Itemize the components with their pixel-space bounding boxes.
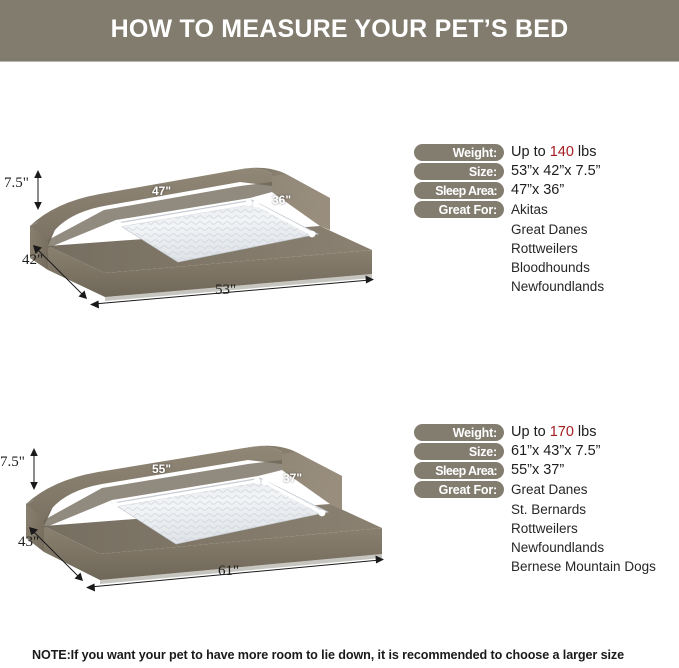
weight-value: Up to 140 lbs bbox=[511, 144, 596, 161]
sleep-area-badge: Sleep Area: bbox=[414, 462, 504, 479]
breed-item: Bloodhounds bbox=[511, 258, 679, 277]
great-for-badge: Great For: bbox=[414, 201, 504, 218]
breed-list: St. Bernards Rottweilers Newfoundlands B… bbox=[511, 500, 679, 576]
spec-row-sleep-area: Sleep Area: 55”x 37” bbox=[414, 462, 679, 481]
size-value: 61”x 43”x 7.5” bbox=[511, 443, 600, 460]
dim-pad-depth-label: 36" bbox=[272, 193, 291, 207]
weight-badge: Weight: bbox=[414, 424, 504, 441]
page-header: HOW TO MEASURE YOUR PET’S BED bbox=[0, 0, 679, 58]
bed-illustration bbox=[0, 130, 410, 330]
dim-depth-label: 42" bbox=[22, 252, 43, 269]
weight-prefix: Up to bbox=[511, 424, 550, 440]
sleep-area-value: 55”x 37” bbox=[511, 462, 564, 479]
dim-width-label: 53" bbox=[215, 282, 236, 299]
spec-panel-xlarge: Weight: Up to 170 lbs Size: 61”x 43”x 7.… bbox=[414, 424, 679, 576]
breed-item: Rottweilers bbox=[511, 239, 679, 258]
header-divider-light bbox=[0, 61, 679, 62]
breed-item: Newfoundlands bbox=[511, 277, 679, 296]
dim-pad-depth-label: 37" bbox=[283, 471, 302, 485]
bed-diagram-xlarge: 7.5" 43" 61" 55" 37" bbox=[0, 410, 410, 610]
spec-row-sleep-area: Sleep Area: 47”x 36” bbox=[414, 182, 679, 201]
breed-list: Great Danes Rottweilers Bloodhounds Newf… bbox=[511, 220, 679, 296]
dim-height-label: 7.5" bbox=[4, 175, 29, 192]
great-for-badge: Great For: bbox=[414, 481, 504, 498]
dim-pad-width-label: 55" bbox=[152, 462, 171, 476]
spec-row-weight: Weight: Up to 170 lbs bbox=[414, 424, 679, 443]
product-block-xlarge: 7.5" 43" 61" 55" 37" Weight: Up to 170 l… bbox=[0, 410, 679, 610]
weight-suffix: lbs bbox=[574, 424, 597, 440]
breed-item: Bernese Mountain Dogs bbox=[511, 557, 679, 576]
weight-badge: Weight: bbox=[414, 144, 504, 161]
size-badge: Size: bbox=[414, 443, 504, 460]
spec-row-size: Size: 53”x 42”x 7.5” bbox=[414, 163, 679, 182]
dim-height-label: 7.5" bbox=[0, 454, 25, 471]
breed-item: Rottweilers bbox=[511, 519, 679, 538]
weight-value: Up to 170 lbs bbox=[511, 424, 596, 441]
spec-row-great-for: Great For: Akitas bbox=[414, 201, 679, 220]
breed-item: Great Danes bbox=[511, 481, 588, 498]
bed-illustration bbox=[0, 410, 410, 610]
sleep-area-badge: Sleep Area: bbox=[414, 182, 504, 199]
dim-depth-label: 43" bbox=[18, 534, 39, 551]
dim-pad-width-label: 47" bbox=[152, 184, 171, 198]
spec-row-great-for: Great For: Great Danes bbox=[414, 481, 679, 500]
spec-panel-large: Weight: Up to 140 lbs Size: 53”x 42”x 7.… bbox=[414, 144, 679, 296]
product-block-large: 7.5" 42" 53" 47" 36" Weight: Up to 140 l… bbox=[0, 130, 679, 330]
page-title: HOW TO MEASURE YOUR PET’S BED bbox=[111, 15, 569, 44]
bed-diagram-large: 7.5" 42" 53" 47" 36" bbox=[0, 130, 410, 330]
breed-item: St. Bernards bbox=[511, 500, 679, 519]
spec-row-weight: Weight: Up to 140 lbs bbox=[414, 144, 679, 163]
weight-number: 140 bbox=[550, 144, 574, 160]
breed-item: Newfoundlands bbox=[511, 538, 679, 557]
size-value: 53”x 42”x 7.5” bbox=[511, 163, 600, 180]
spec-row-size: Size: 61”x 43”x 7.5” bbox=[414, 443, 679, 462]
sleep-area-value: 47”x 36” bbox=[511, 182, 564, 199]
weight-prefix: Up to bbox=[511, 144, 550, 160]
dim-width-label: 61" bbox=[218, 563, 239, 580]
weight-suffix: lbs bbox=[574, 144, 597, 160]
breed-item: Akitas bbox=[511, 201, 548, 218]
size-badge: Size: bbox=[414, 163, 504, 180]
breed-item: Great Danes bbox=[511, 220, 679, 239]
footer-note: NOTE:If you want your pet to have more r… bbox=[32, 648, 624, 662]
weight-number: 170 bbox=[550, 424, 574, 440]
